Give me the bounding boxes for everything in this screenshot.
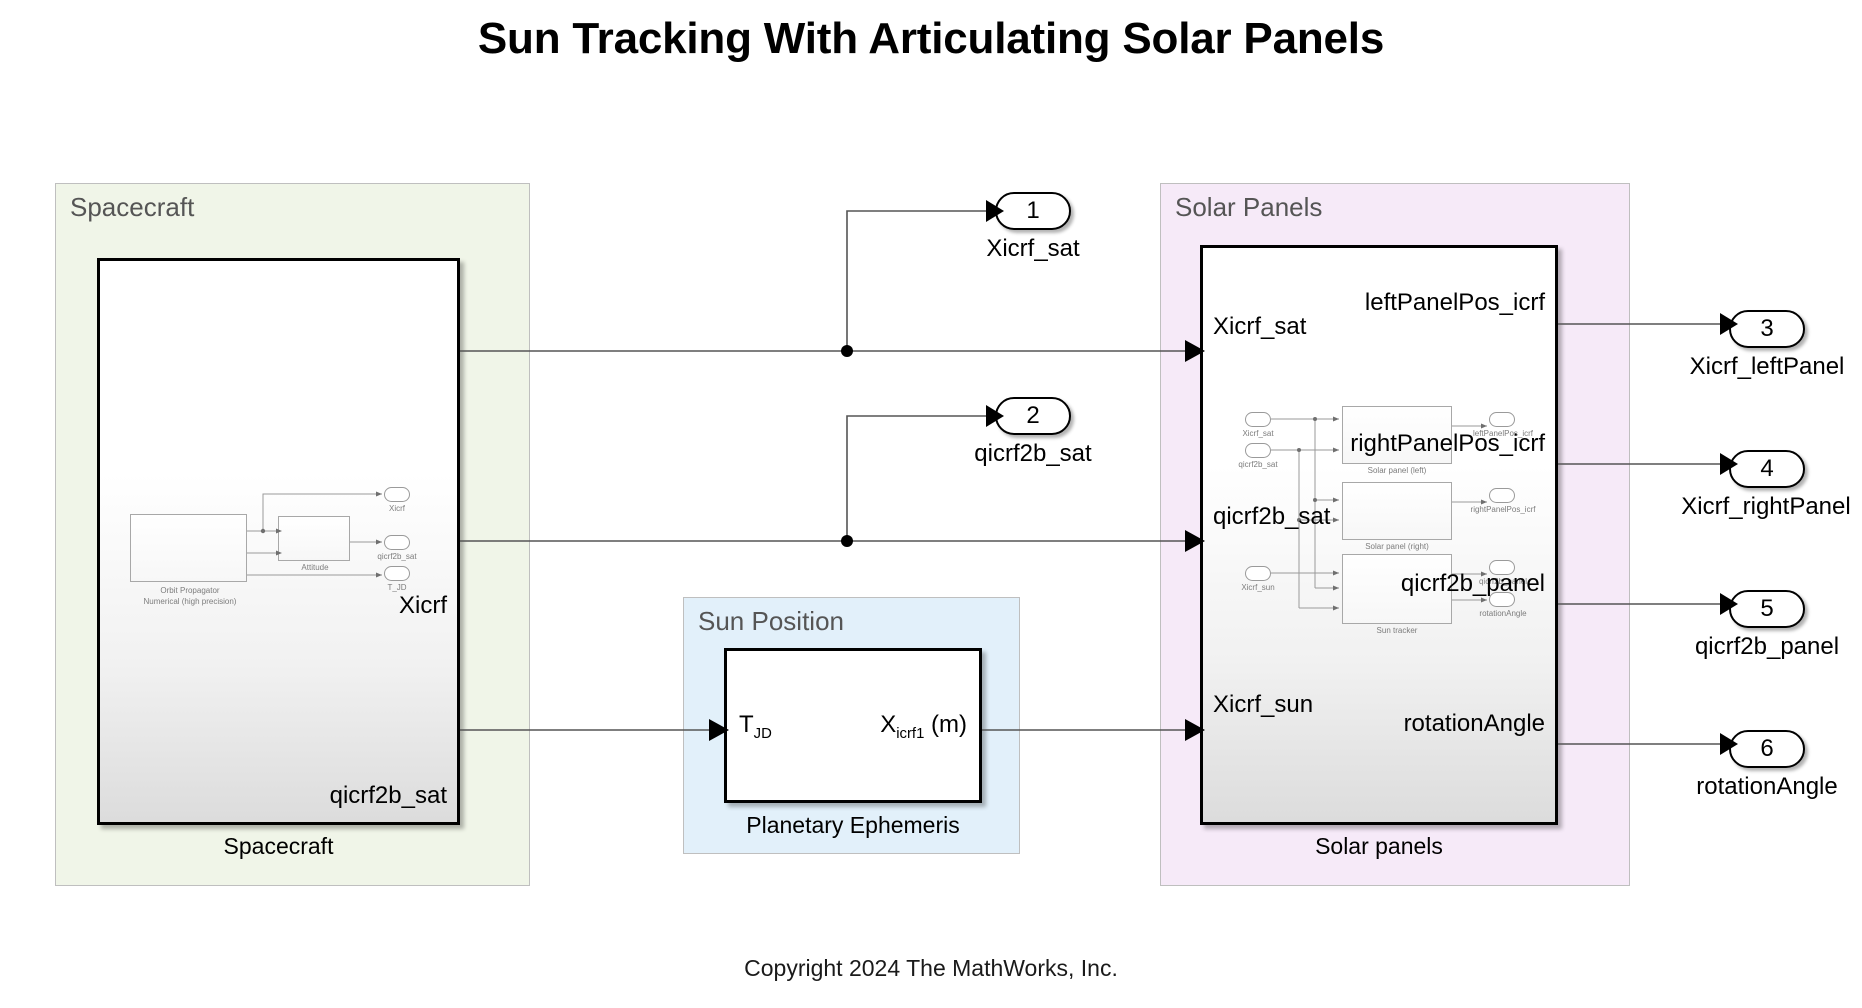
block-solar-panels[interactable]: Xicrf_sat qicrf2b_sat Xicrf_sun Solar pa… <box>1200 245 1558 825</box>
block-spacecraft[interactable]: Orbit Propagator Numerical (high precisi… <box>97 258 460 825</box>
outport-5[interactable]: 5 <box>1729 590 1805 628</box>
outport-1[interactable]: 1 <box>995 192 1071 230</box>
page-title: Sun Tracking With Articulating Solar Pan… <box>0 14 1862 64</box>
simulink-canvas: Sun Tracking With Articulating Solar Pan… <box>0 0 1862 1008</box>
outport-6[interactable]: 6 <box>1729 730 1805 768</box>
ephemeris-input-sub: JD <box>754 726 772 742</box>
area-solar-panels-title: Solar Panels <box>1175 192 1322 223</box>
solar-panels-in-qicrf2b-sat: qicrf2b_sat <box>1213 503 1330 531</box>
spacecraft-out-qicrf2b-sat: qicrf2b_sat <box>330 782 447 810</box>
ephemeris-output-unit: (m) <box>924 711 967 738</box>
junction-dot-xicrf <box>841 345 853 357</box>
block-planetary-ephemeris[interactable]: TJD Xicrf1 (m) <box>724 648 982 803</box>
block-spacecraft-caption: Spacecraft <box>97 833 460 860</box>
solar-panels-out-qicrf2b-panel: qicrf2b_panel <box>1401 570 1545 598</box>
block-solar-panels-caption: Solar panels <box>1200 833 1558 860</box>
solar-panels-out-rotationangle: rotationAngle <box>1404 710 1545 738</box>
solar-panels-out-rightpanelpos: rightPanelPos_icrf <box>1350 430 1545 458</box>
spacecraft-preview: Orbit Propagator Numerical (high precisi… <box>100 261 460 825</box>
area-sun-position-title: Sun Position <box>698 606 844 637</box>
area-spacecraft-title: Spacecraft <box>70 192 194 223</box>
ephemeris-input-main: T <box>739 711 754 738</box>
outport-2-caption: qicrf2b_sat <box>925 440 1141 468</box>
outport-4-caption: Xicrf_rightPanel <box>1650 493 1862 521</box>
solar-panels-out-leftpanelpos: leftPanelPos_icrf <box>1365 289 1545 317</box>
outport-3[interactable]: 3 <box>1729 310 1805 348</box>
outport-5-caption: qicrf2b_panel <box>1660 633 1862 661</box>
outport-2[interactable]: 2 <box>995 397 1071 435</box>
spacecraft-out-xicrf: Xicrf <box>399 592 447 620</box>
junction-dot-qicrf2b <box>841 535 853 547</box>
block-planetary-ephemeris-caption: Planetary Ephemeris <box>704 812 1002 839</box>
spacecraft-preview-wires <box>100 261 460 825</box>
solar-panels-in-xicrf-sun: Xicrf_sun <box>1213 691 1313 719</box>
ephemeris-output-sub: icrf1 <box>896 726 924 742</box>
outport-3-caption: Xicrf_leftPanel <box>1655 353 1862 381</box>
outport-1-caption: Xicrf_sat <box>925 235 1141 263</box>
ephemeris-output-label: Xicrf1 (m) <box>880 711 967 739</box>
outport-6-caption: rotationAngle <box>1660 773 1862 801</box>
solar-panels-in-xicrf-sat: Xicrf_sat <box>1213 313 1306 341</box>
outport-4[interactable]: 4 <box>1729 450 1805 488</box>
ephemeris-output-main: X <box>880 711 896 738</box>
copyright-text: Copyright 2024 The MathWorks, Inc. <box>0 955 1862 982</box>
wire-qicrf2b-branch-to-outport2 <box>847 416 986 541</box>
ephemeris-input-label: TJD <box>739 711 772 739</box>
wire-xicrf-branch-to-outport1 <box>847 211 986 351</box>
